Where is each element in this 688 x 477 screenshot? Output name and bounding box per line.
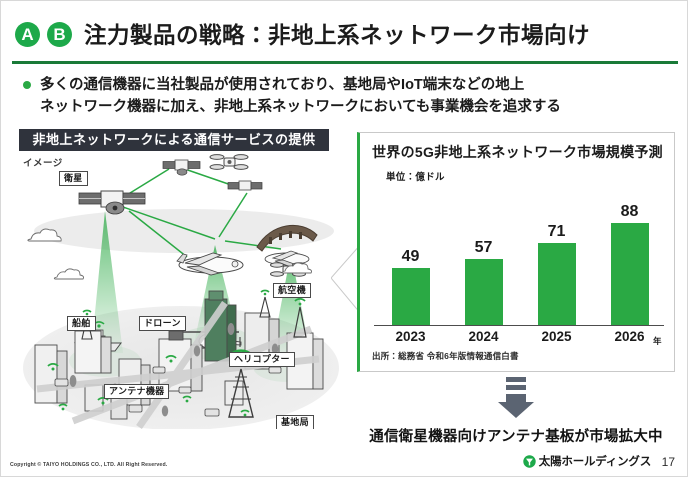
bullet-dot-icon [23, 81, 31, 89]
illustration-label-satellite: 衛星 [59, 171, 88, 186]
chart-x-tick-2026: 2026 [594, 329, 666, 344]
chart-bar-rect [611, 223, 649, 325]
chart-x-tick-2024: 2024 [448, 329, 520, 344]
chart-source-note: 出所：総務省 令和6年版情報通信白書 [372, 350, 519, 362]
chart-plot-area: 49577188 [374, 185, 666, 325]
bullet-text: 多くの通信機器に当社製品が使用されており、基地局やIoT端末などの地上 ネットワ… [40, 74, 561, 119]
page-title: A B 注力製品の戦略：非地上系ネットワーク市場向け [15, 13, 675, 55]
chart-bar-2024: 57 [448, 185, 520, 325]
bullet-block: 多くの通信機器に当社製品が使用されており、基地局やIoT端末などの地上 ネットワ… [23, 74, 673, 119]
slide-root: A B 注力製品の戦略：非地上系ネットワーク市場向け 多くの通信機器に当社製品が… [0, 0, 688, 477]
title-text: 注力製品の戦略：非地上系ネットワーク市場向け [84, 18, 590, 50]
chart-title: 世界の5G非地上系ネットワーク市場規模予測 [372, 142, 663, 162]
footer-copyright: Copyright © TAIYO HOLDINGS CO., LTD. All… [10, 462, 167, 468]
chart-unit-label: 単位：億ドル [386, 169, 445, 183]
chart-bar-value: 71 [548, 224, 566, 240]
drone-top-icon [210, 155, 248, 170]
title-divider [12, 61, 678, 64]
chart-x-tick-2025: 2025 [521, 329, 593, 344]
chart-bar-rect [538, 243, 576, 325]
brand-name: 太陽ホールディングス [539, 453, 651, 469]
bullet-line-2: ネットワーク機器に加え、非地上系ネットワークにおいても事業機会を追求する [40, 96, 561, 118]
chart-bar-2023: 49 [375, 185, 447, 325]
badge-a: A [15, 22, 40, 47]
illustration-label-helicopter: ヘリコプター [229, 352, 295, 367]
chart-bar-value: 49 [402, 249, 420, 265]
badge-b: B [47, 22, 72, 47]
chart-x-axis [374, 325, 664, 326]
chart-bar-2026: 88 [594, 185, 666, 325]
chart-bar-rect [465, 259, 503, 325]
illustration-label-antenna: アンテナ機器 [104, 384, 169, 399]
down-arrow-icon [497, 377, 535, 419]
illustration-label-ship: 船舶 [67, 316, 96, 331]
illustration-canvas: 衛星航空機船舶ドローンヘリコプターアンテナ機器IOT機器基地局 [19, 153, 349, 429]
illustration-label-aircraft: 航空機 [273, 283, 311, 298]
conclusion-text: 通信衛星機器向けアンテナ基板が市場拡大中 [357, 425, 675, 446]
illustration-label-drone: ドローン [139, 316, 186, 331]
chart-bar-2025: 71 [521, 185, 593, 325]
illustration-panel: 非地上ネットワークによる通信サービスの提供 イメージ [19, 129, 349, 429]
illustration-header: 非地上ネットワークによる通信サービスの提供 [19, 129, 329, 151]
illustration-label-base-station: 基地局 [276, 415, 314, 429]
market-forecast-chart: 世界の5G非地上系ネットワーク市場規模予測 単位：億ドル 49577188 年 … [357, 132, 675, 372]
taiyo-logo-icon [523, 455, 536, 468]
chart-bar-value: 57 [475, 240, 493, 256]
chart-bar-rect [392, 268, 430, 325]
chart-x-tick-2023: 2023 [375, 329, 447, 344]
chart-bar-value: 88 [621, 204, 639, 220]
bullet-line-1: 多くの通信機器に当社製品が使用されており、基地局やIoT端末などの地上 [40, 74, 561, 96]
page-number: 17 [662, 455, 675, 469]
satellite-right-icon [228, 181, 262, 190]
footer-brand: 太陽ホールディングス [523, 453, 651, 469]
